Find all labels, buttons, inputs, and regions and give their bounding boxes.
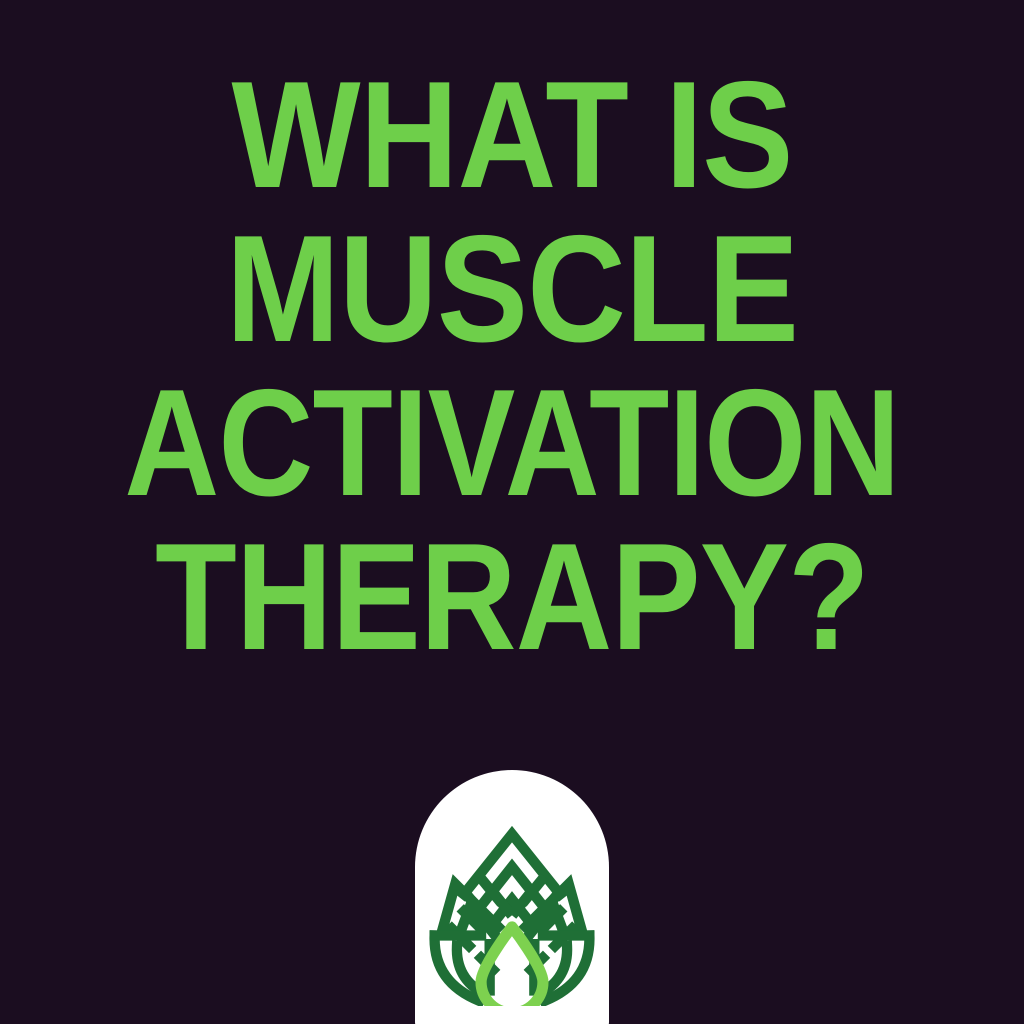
poster-canvas: WHAT IS MUSCLE ACTIVATION THERAPY? (0, 0, 1024, 1024)
logo-badge (415, 770, 609, 1024)
leaf-droplet-logo-icon (426, 798, 598, 1006)
headline-line-3: ACTIVATION (69, 366, 955, 520)
headline-line-2: MUSCLE (51, 212, 973, 366)
headline-line-4: THERAPY? (61, 520, 962, 674)
page-title: WHAT IS MUSCLE ACTIVATION THERAPY? (0, 58, 1024, 674)
headline-line-1: WHAT IS (51, 58, 973, 212)
leaf-knot-group (435, 834, 590, 1001)
leaf-droplet-svg (426, 798, 598, 1006)
